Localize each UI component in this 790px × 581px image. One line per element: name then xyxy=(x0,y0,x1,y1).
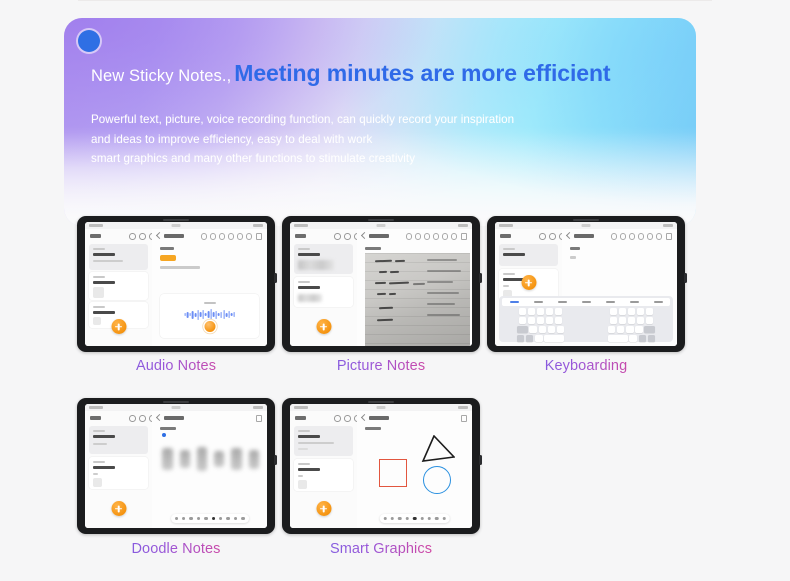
more-icon[interactable] xyxy=(666,233,673,240)
grid-view-icon[interactable] xyxy=(344,233,351,240)
card-caption: Doodle Notes xyxy=(77,541,275,557)
list-item[interactable] xyxy=(294,459,353,491)
battery-icon xyxy=(253,406,263,409)
suggestion-item[interactable] xyxy=(534,301,543,304)
status-bar xyxy=(290,404,472,411)
card-caption: Keyboarding xyxy=(487,358,685,374)
marker-icon[interactable] xyxy=(182,517,185,520)
drawing-toolbar[interactable] xyxy=(379,514,450,523)
side-button-icon xyxy=(479,273,482,283)
key[interactable] xyxy=(637,317,645,324)
space-key[interactable] xyxy=(608,335,628,342)
note-preview xyxy=(93,473,98,475)
key[interactable] xyxy=(528,317,536,324)
key[interactable] xyxy=(555,317,563,324)
note-preview xyxy=(93,443,107,445)
lasso-icon[interactable] xyxy=(428,517,431,520)
card-caption: Audio Notes xyxy=(77,358,275,374)
note-date xyxy=(93,461,105,463)
key[interactable] xyxy=(619,308,627,315)
suggestion-item[interactable] xyxy=(582,301,591,304)
note-heading xyxy=(570,247,580,250)
card-doodle-notes[interactable] xyxy=(77,398,275,534)
note-preview xyxy=(93,260,123,262)
editor-title xyxy=(164,416,184,420)
note-list-pane xyxy=(290,411,358,528)
note-preview xyxy=(298,442,334,444)
note-date xyxy=(503,273,515,275)
note-thumbnail xyxy=(93,478,102,487)
key[interactable] xyxy=(519,308,527,315)
key[interactable] xyxy=(529,326,537,333)
undo-icon[interactable] xyxy=(406,233,413,240)
note-heading xyxy=(365,427,381,430)
shape-icon[interactable] xyxy=(219,517,222,520)
more-icon[interactable] xyxy=(256,415,263,422)
redo-icon[interactable] xyxy=(620,233,627,240)
note-title xyxy=(93,253,115,256)
note-date xyxy=(93,276,105,278)
editor-title xyxy=(574,234,594,238)
note-preview xyxy=(298,475,303,477)
suggestion-bar[interactable] xyxy=(502,298,670,306)
key[interactable] xyxy=(537,317,545,324)
note-thumbnail xyxy=(93,287,104,298)
enter-key[interactable] xyxy=(648,335,656,342)
back-icon[interactable] xyxy=(361,414,368,421)
side-button-icon xyxy=(274,455,277,465)
add-note-button[interactable] xyxy=(316,319,331,334)
color-swatch-icon[interactable] xyxy=(413,517,416,520)
status-notch xyxy=(377,224,386,227)
audio-player-card[interactable] xyxy=(160,294,259,338)
key[interactable] xyxy=(546,308,554,315)
key[interactable] xyxy=(546,317,554,324)
note-heading xyxy=(365,247,381,250)
on-screen-keyboard[interactable] xyxy=(499,296,673,342)
card-audio-notes[interactable] xyxy=(77,216,275,352)
square-shape xyxy=(379,459,407,487)
editor-toolbar xyxy=(357,229,472,242)
list-item[interactable] xyxy=(294,277,353,307)
eraser-icon[interactable] xyxy=(406,517,409,520)
status-bar xyxy=(85,222,267,229)
note-date xyxy=(503,248,515,250)
card-keyboarding[interactable] xyxy=(487,216,685,352)
key[interactable] xyxy=(617,326,625,333)
list-item[interactable] xyxy=(89,272,148,300)
keyboard-row xyxy=(502,317,670,324)
status-bar xyxy=(495,222,677,229)
add-note-button[interactable] xyxy=(521,275,536,290)
undo-icon[interactable] xyxy=(611,233,618,240)
list-item[interactable] xyxy=(89,426,148,454)
bullet-dot-icon xyxy=(162,433,166,437)
drawing-toolbar[interactable] xyxy=(171,514,249,523)
note-title xyxy=(93,311,115,314)
search-icon[interactable] xyxy=(129,233,136,240)
note-list-pane xyxy=(290,229,358,346)
status-time xyxy=(294,406,308,409)
audio-waveform xyxy=(184,309,235,320)
note-list-pane xyxy=(85,411,153,528)
note-list-toolbar xyxy=(290,229,357,242)
keyboard-row xyxy=(502,335,670,342)
add-note-button[interactable] xyxy=(111,319,126,334)
note-date xyxy=(93,306,105,308)
search-icon[interactable] xyxy=(129,415,136,422)
audio-duration-label xyxy=(204,302,216,304)
pen-icon[interactable] xyxy=(383,517,386,520)
add-note-button[interactable] xyxy=(316,501,331,516)
more-icon[interactable] xyxy=(461,233,468,240)
text-format-icon[interactable] xyxy=(629,233,636,240)
note-list-toolbar xyxy=(290,411,357,424)
image-icon[interactable] xyxy=(433,233,440,240)
grid-view-icon[interactable] xyxy=(139,233,146,240)
suggestion-item[interactable] xyxy=(654,301,663,304)
note-date xyxy=(93,248,105,250)
status-time xyxy=(294,224,308,227)
note-preview xyxy=(298,448,308,450)
note-title xyxy=(298,435,320,438)
note-date xyxy=(298,463,310,465)
suggestion-item[interactable] xyxy=(630,301,639,304)
mic-icon[interactable] xyxy=(237,233,244,240)
status-notch xyxy=(172,224,181,227)
redo-icon[interactable] xyxy=(415,233,422,240)
side-button-icon xyxy=(684,273,687,283)
status-time xyxy=(499,224,513,227)
text-format-icon[interactable] xyxy=(424,233,431,240)
emoji-key[interactable] xyxy=(526,335,534,342)
battery-icon xyxy=(253,224,263,227)
note-title xyxy=(298,253,320,256)
suggestion-item[interactable] xyxy=(558,301,567,304)
keyboard-rows xyxy=(502,308,670,340)
key[interactable] xyxy=(608,326,616,333)
tablet-screen xyxy=(495,222,677,346)
status-notch xyxy=(377,406,386,409)
status-notch xyxy=(172,406,181,409)
editor-title xyxy=(164,234,184,238)
key[interactable] xyxy=(537,308,545,315)
triangle-shape xyxy=(421,435,455,463)
space-key[interactable] xyxy=(544,335,564,342)
battery-icon xyxy=(458,224,468,227)
note-list-toolbar xyxy=(85,229,152,242)
key[interactable] xyxy=(610,308,618,315)
undo-icon[interactable] xyxy=(435,517,438,520)
suggestion-item[interactable] xyxy=(606,301,615,304)
status-bar xyxy=(290,222,472,229)
note-date xyxy=(298,248,310,250)
list-item[interactable] xyxy=(89,457,148,489)
back-icon[interactable] xyxy=(156,414,163,421)
note-list-pane xyxy=(85,229,153,346)
note-editor-pane xyxy=(357,229,472,346)
editor-toolbar xyxy=(152,411,267,424)
tablet-frame xyxy=(487,216,685,352)
note-list-toolbar xyxy=(495,229,562,242)
back-icon[interactable] xyxy=(361,232,368,239)
tablet-screen xyxy=(290,404,472,528)
note-list-title xyxy=(500,234,511,238)
key[interactable] xyxy=(646,308,654,315)
list-item[interactable] xyxy=(294,244,353,274)
pen-icon[interactable] xyxy=(656,233,663,240)
note-body-line xyxy=(160,266,200,269)
status-time xyxy=(89,406,103,409)
note-title xyxy=(93,435,115,438)
note-date xyxy=(93,430,105,432)
tablet-frame xyxy=(77,398,275,534)
keyboard-row xyxy=(502,326,670,333)
mic-icon[interactable] xyxy=(442,233,449,240)
handwriting-strokes xyxy=(162,441,259,477)
image-icon[interactable] xyxy=(638,233,645,240)
more-icon[interactable] xyxy=(443,517,446,520)
more-icon[interactable] xyxy=(256,233,263,240)
numeric-key[interactable] xyxy=(517,335,525,342)
key[interactable] xyxy=(528,308,536,315)
tag-chip xyxy=(160,255,176,261)
side-button-icon xyxy=(479,455,482,465)
key[interactable] xyxy=(535,335,543,342)
editor-toolbar xyxy=(562,229,677,242)
checklist-icon[interactable] xyxy=(228,233,235,240)
pen-icon[interactable] xyxy=(246,233,253,240)
battery-icon xyxy=(663,224,673,227)
key[interactable] xyxy=(557,326,565,333)
undo-icon[interactable] xyxy=(201,233,208,240)
note-title xyxy=(93,281,115,284)
key[interactable] xyxy=(519,317,527,324)
note-title xyxy=(503,253,525,256)
grid-view-icon[interactable] xyxy=(344,415,351,422)
tablet-frame xyxy=(77,216,275,352)
key[interactable] xyxy=(610,317,618,324)
circle-shape xyxy=(423,466,451,494)
list-item[interactable] xyxy=(499,244,558,266)
pencil-icon[interactable] xyxy=(189,517,192,520)
note-editor-pane xyxy=(152,411,267,528)
page-root: New Sticky Notes.,Meeting minutes are mo… xyxy=(0,0,790,581)
note-date xyxy=(298,281,310,283)
search-icon[interactable] xyxy=(539,233,546,240)
tablet-frame xyxy=(282,398,480,534)
note-editor-pane xyxy=(357,411,472,528)
battery-icon xyxy=(458,406,468,409)
record-button[interactable] xyxy=(204,321,215,332)
key[interactable] xyxy=(637,308,645,315)
status-time xyxy=(89,224,103,227)
note-list-toolbar xyxy=(85,411,152,424)
backspace-key[interactable] xyxy=(644,326,655,333)
note-preview-blurred xyxy=(298,294,322,302)
editor-title xyxy=(369,234,389,238)
editor-toolbar xyxy=(357,411,472,424)
key[interactable] xyxy=(555,308,563,315)
add-note-button[interactable] xyxy=(111,501,126,516)
color-swatch-icon[interactable] xyxy=(212,517,215,520)
keyboard-row xyxy=(502,308,670,315)
suggestion-item[interactable] xyxy=(510,301,519,304)
key[interactable] xyxy=(628,317,636,324)
tablet-frame xyxy=(282,216,480,352)
note-list-title xyxy=(90,416,101,420)
shift-key[interactable] xyxy=(517,326,528,333)
key[interactable] xyxy=(539,326,547,333)
grid-view-icon[interactable] xyxy=(139,415,146,422)
shape-icon[interactable] xyxy=(420,517,423,520)
grid-view-icon[interactable] xyxy=(549,233,556,240)
note-title xyxy=(298,286,320,289)
key[interactable] xyxy=(629,335,637,342)
lasso-icon[interactable] xyxy=(204,517,207,520)
side-button-icon xyxy=(274,273,277,283)
note-thumbnail xyxy=(93,317,101,325)
note-thumbnail xyxy=(298,480,307,489)
redo-icon[interactable] xyxy=(210,233,217,240)
note-list-title xyxy=(295,416,306,420)
status-bar xyxy=(85,404,267,411)
card-picture-notes[interactable] xyxy=(282,216,480,352)
note-preview xyxy=(503,285,509,287)
search-icon[interactable] xyxy=(334,415,341,422)
undo-icon[interactable] xyxy=(234,517,237,520)
mic-key[interactable] xyxy=(639,335,647,342)
note-editor-pane xyxy=(152,229,267,346)
more-icon[interactable] xyxy=(241,517,244,520)
key[interactable] xyxy=(626,326,634,333)
note-heading xyxy=(160,247,174,250)
note-preview-blurred xyxy=(298,260,334,270)
status-notch xyxy=(582,224,591,227)
marker-icon[interactable] xyxy=(391,517,394,520)
mic-icon[interactable] xyxy=(647,233,654,240)
note-list-title xyxy=(90,234,101,238)
tablet-screen xyxy=(85,222,267,346)
editor-title xyxy=(369,416,389,420)
search-icon[interactable] xyxy=(334,233,341,240)
card-smart-graphics[interactable] xyxy=(282,398,480,534)
note-title xyxy=(93,466,115,469)
card-caption: Picture Notes xyxy=(282,358,480,374)
pen-icon[interactable] xyxy=(451,233,458,240)
more-icon[interactable] xyxy=(461,415,468,422)
key[interactable] xyxy=(628,308,636,315)
key[interactable] xyxy=(646,317,654,324)
ruler-icon[interactable] xyxy=(226,517,229,520)
note-list-title xyxy=(295,234,306,238)
eraser-icon[interactable] xyxy=(197,517,200,520)
note-date xyxy=(298,430,310,432)
tablet-screen xyxy=(290,222,472,346)
image-icon[interactable] xyxy=(219,233,226,240)
key[interactable] xyxy=(548,326,556,333)
key[interactable] xyxy=(635,326,643,333)
list-item[interactable] xyxy=(294,426,353,456)
editor-toolbar xyxy=(152,229,267,242)
tablet-screen xyxy=(85,404,267,528)
pencil-icon[interactable] xyxy=(398,517,401,520)
note-title xyxy=(298,468,320,471)
note-heading xyxy=(160,427,176,430)
note-body-line xyxy=(570,256,576,259)
feature-card-grid: Audio Notes xyxy=(0,0,790,581)
back-icon[interactable] xyxy=(156,232,163,239)
back-icon[interactable] xyxy=(566,232,573,239)
card-caption: Smart Graphics xyxy=(282,541,480,557)
list-item[interactable] xyxy=(89,244,148,270)
handwriting-photo xyxy=(365,253,470,346)
key[interactable] xyxy=(619,317,627,324)
pen-icon[interactable] xyxy=(175,517,178,520)
